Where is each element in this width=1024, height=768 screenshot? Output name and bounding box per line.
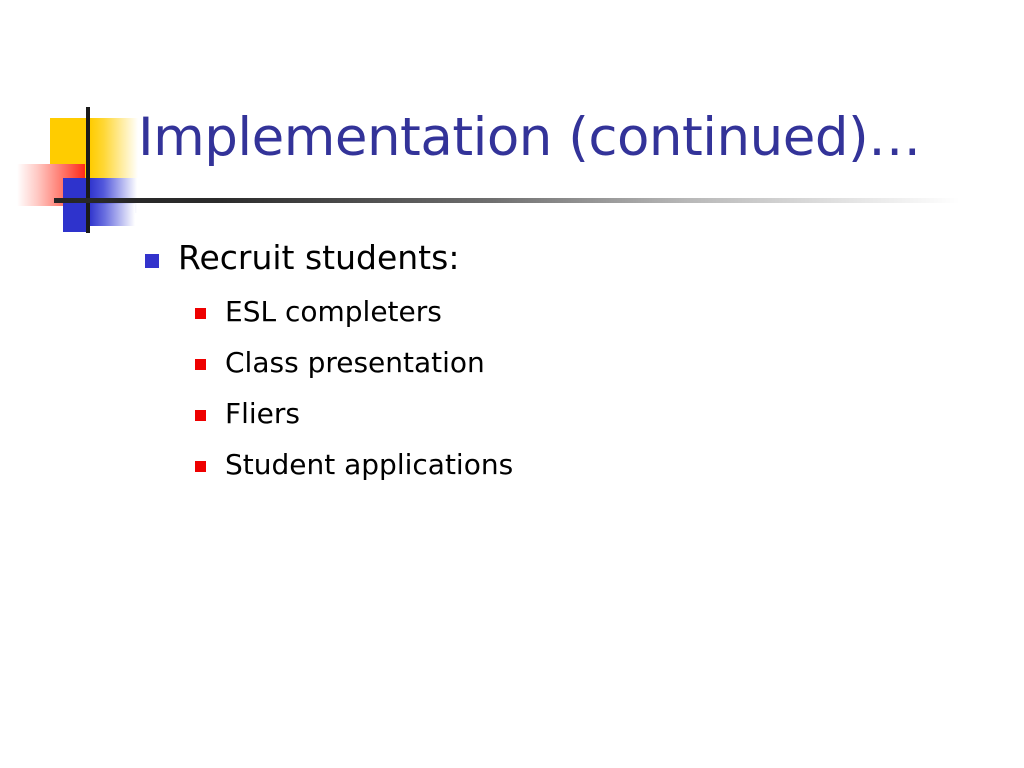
bullet-label: ESL completers <box>225 295 442 328</box>
bullet-label: Class presentation <box>225 346 485 379</box>
red-gradient-block-icon <box>17 164 85 206</box>
bullet-item-level2: Class presentation <box>0 343 1024 383</box>
slide-body: Recruit students: ESL completers Class p… <box>0 236 1024 496</box>
yellow-block-icon <box>50 118 90 178</box>
bullet-item-level2: ESL completers <box>0 292 1024 332</box>
yellow-gradient-icon <box>90 118 138 178</box>
square-bullet-icon <box>145 254 159 268</box>
bullet-item-level2: Fliers <box>0 394 1024 434</box>
bullet-label: Recruit students: <box>178 238 459 277</box>
square-bullet-icon <box>195 410 206 421</box>
bullet-label: Fliers <box>225 397 300 430</box>
slide-title: Implementation (continued)… <box>138 106 998 170</box>
bullet-label: Student applications <box>225 448 513 481</box>
square-bullet-icon <box>195 359 206 370</box>
horizontal-rule-divider <box>54 198 960 203</box>
square-bullet-icon <box>195 308 206 319</box>
square-bullet-icon <box>195 461 206 472</box>
bullet-sublist: ESL completers Class presentation Fliers… <box>0 292 1024 485</box>
blue-gradient-icon <box>89 178 137 213</box>
bullet-item-level1: Recruit students: <box>0 236 1024 280</box>
bullet-item-level2: Student applications <box>0 445 1024 485</box>
blue-block-icon <box>63 178 89 232</box>
presentation-slide: Implementation (continued)… Recruit stud… <box>0 0 1024 768</box>
blue-gradient-lower-icon <box>89 204 135 226</box>
vertical-rule-icon <box>86 107 90 233</box>
